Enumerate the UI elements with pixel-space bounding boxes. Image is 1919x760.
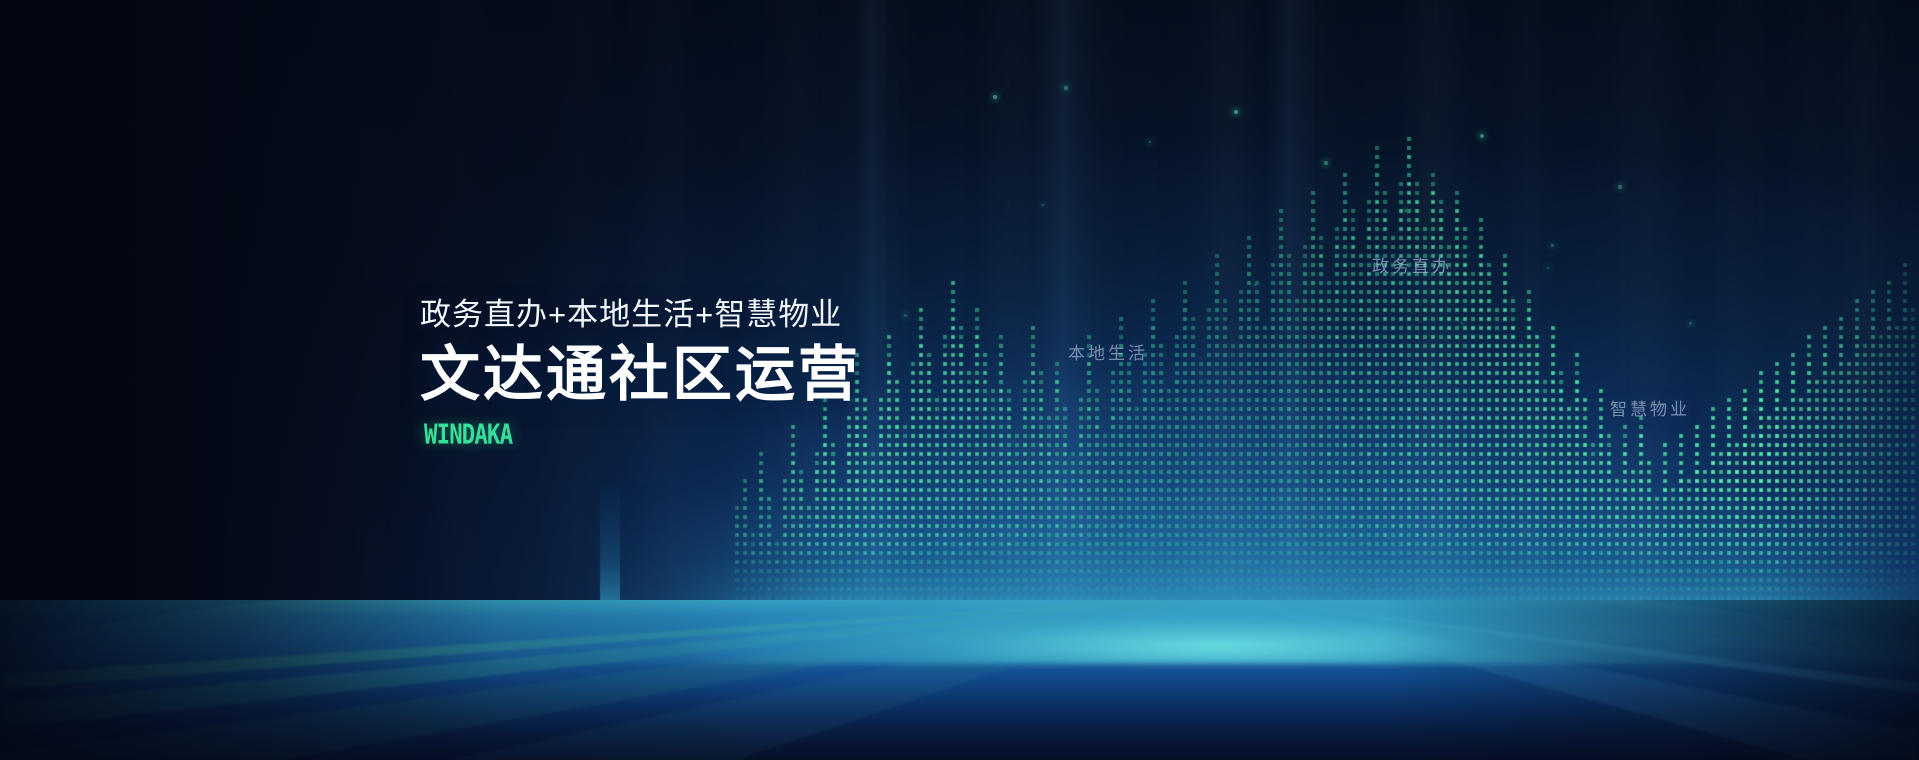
hero-subtitle: 政务直办+本地生活+智慧物业 — [420, 296, 1120, 335]
headline-block: 政务直办+本地生活+智慧物业 文达通社区运营 WINDAKA — [420, 296, 1120, 450]
perspective-ground — [0, 600, 1919, 760]
hero-title: 文达通社区运营 — [420, 341, 1120, 408]
city-label-1: 政务直办 — [1372, 252, 1452, 277]
ground-vignette — [0, 600, 1919, 760]
brand-wordmark: WINDAKA — [424, 419, 1023, 451]
city-label-3: 智慧物业 — [1610, 395, 1690, 420]
hero-banner: 政务直办本地生活智慧物业 政务直办+本地生活+智慧物业 文达通社区运营 WIND… — [0, 0, 1919, 760]
